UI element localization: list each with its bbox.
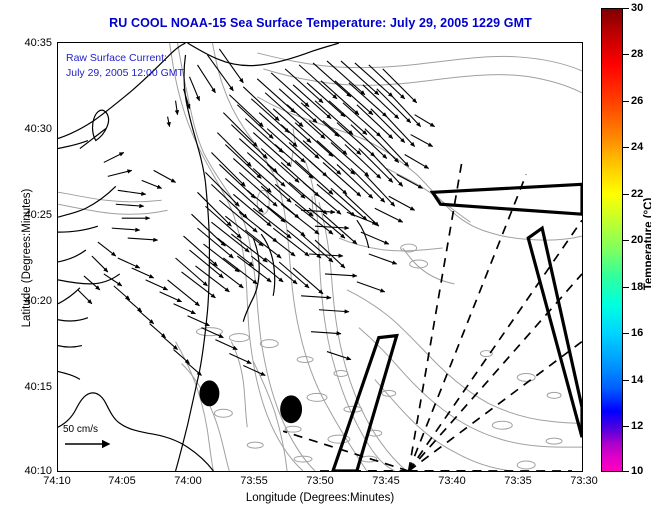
xtick-3: 73:55	[240, 475, 268, 487]
figure-title: RU COOL NOAA-15 Sea Surface Temperature:…	[57, 16, 584, 30]
ytick-5: 40:10	[24, 465, 52, 477]
figure-root: RU COOL NOAA-15 Sea Surface Temperature:…	[0, 0, 651, 518]
cbar-tick-10: 10	[631, 465, 643, 477]
ytick-4: 40:15	[24, 381, 52, 393]
cbar-tick-28: 28	[631, 48, 643, 60]
x-axis-label: Longitude (Degrees:Minutes)	[57, 492, 583, 504]
ytick-1: 40:30	[24, 123, 52, 135]
cbar-tick-20: 20	[631, 234, 643, 246]
raw-current-line1: Raw Surface Current:	[66, 51, 184, 66]
surface-current-vectors	[78, 49, 435, 375]
xtick-2: 74:00	[174, 475, 202, 487]
cbar-tick-26: 26	[631, 95, 643, 107]
xtick-5: 73:45	[372, 475, 400, 487]
raw-current-line2: July 29, 2005 12:00 GMT	[66, 66, 184, 81]
radar-beam-boxes	[333, 184, 582, 471]
cbar-tick-12: 12	[631, 420, 643, 432]
raw-current-annotation: Raw Surface Current: July 29, 2005 12:00…	[66, 51, 184, 81]
cbar-tick-16: 16	[631, 327, 643, 339]
y-axis-label: Latitude (Degrees:Minutes)	[21, 148, 33, 368]
cbar-tick-14: 14	[631, 374, 643, 386]
velocity-scale-arrow-icon	[63, 437, 153, 449]
cbar-tick-22: 22	[631, 188, 643, 200]
velocity-scale-label: 50 cm/s	[63, 424, 153, 435]
colorbar-gradient	[601, 8, 623, 472]
velocity-scale-bar: 50 cm/s	[63, 424, 153, 449]
cbar-tick-18: 18	[631, 281, 643, 293]
colorbar-title: Temperature (°C)	[643, 164, 651, 324]
xtick-6: 73:40	[438, 475, 466, 487]
xtick-1: 74:05	[108, 475, 136, 487]
cbar-tick-30: 30	[631, 2, 643, 14]
xtick-8: 73:30	[570, 475, 598, 487]
radar-coverage-sectors	[283, 158, 582, 471]
map-plot-area[interactable]: Raw Surface Current: July 29, 2005 12:00…	[57, 42, 583, 472]
xtick-7: 73:35	[504, 475, 532, 487]
ytick-0: 40:35	[24, 37, 52, 49]
map-canvas	[58, 43, 582, 471]
xtick-4: 73:50	[306, 475, 334, 487]
cbar-tick-24: 24	[631, 141, 643, 153]
